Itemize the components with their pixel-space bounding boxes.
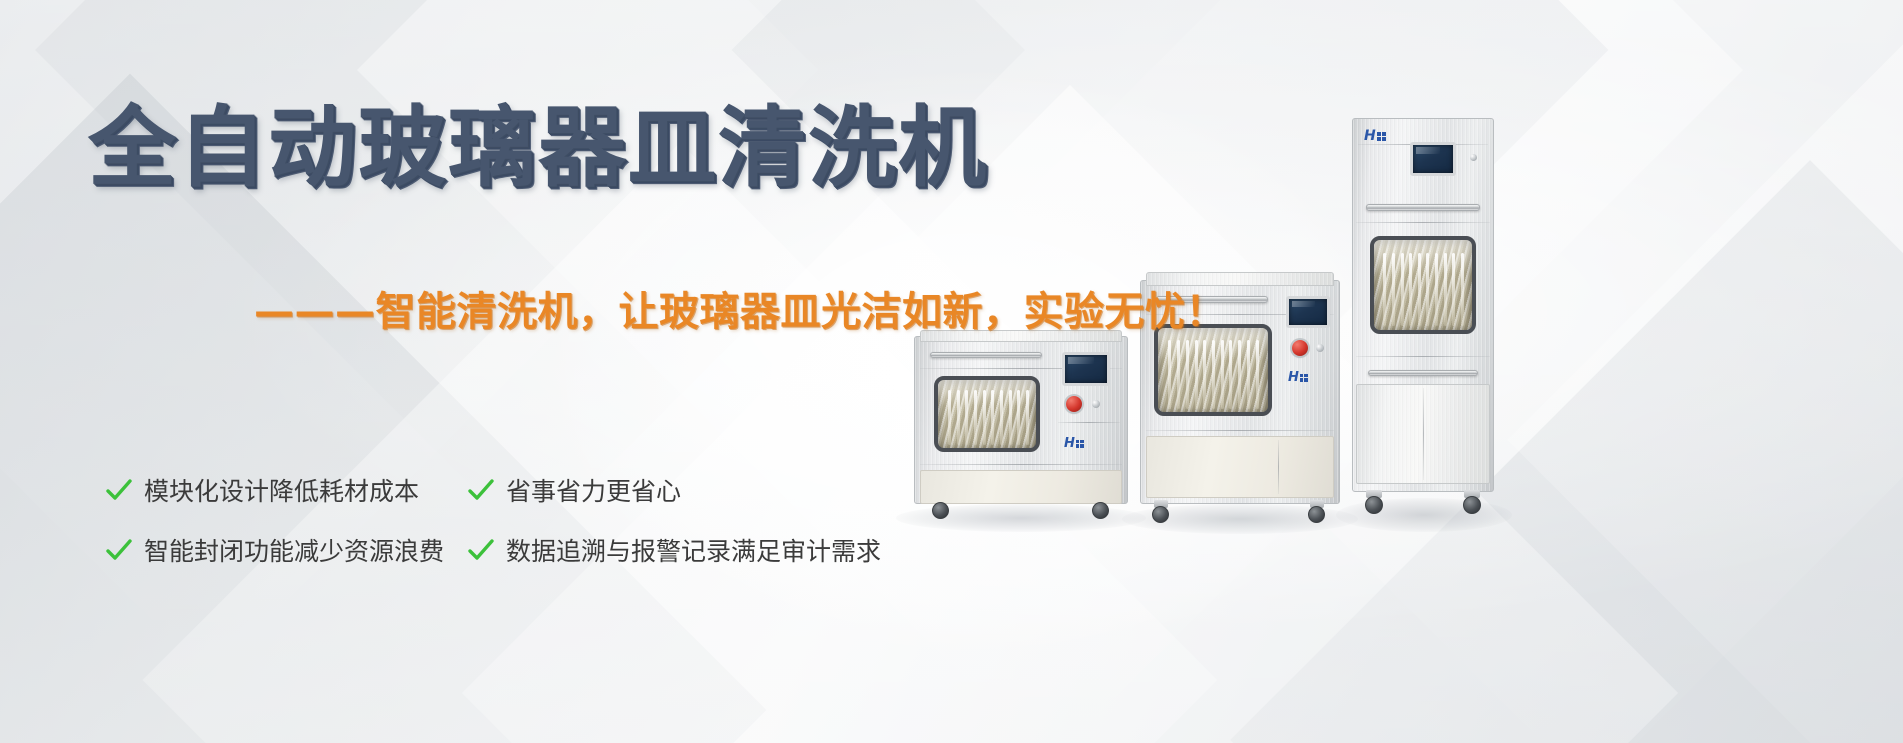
feature-item-3: 智能封闭功能减少资源浪费 (104, 532, 466, 568)
check-icon (466, 475, 496, 505)
feature-label: 数据追溯与报警记录满足审计需求 (506, 532, 881, 568)
feature-row: 智能封闭功能减少资源浪费 数据追溯与报警记录满足审计需求 (104, 532, 881, 568)
feature-item-2: 省事省力更省心 (466, 472, 681, 508)
check-icon (466, 535, 496, 565)
product-banner: H (0, 0, 1903, 743)
feature-label: 模块化设计降低耗材成本 (144, 472, 419, 508)
check-icon (104, 475, 134, 505)
page-title: 全自动玻璃器皿清洗机 (88, 104, 988, 192)
feature-list: 模块化设计降低耗材成本 省事省力更省心 (104, 472, 881, 568)
page-subtitle: ———智能清洗机，让玻璃器皿光洁如新，实验无忧！ (254, 292, 1226, 332)
check-icon (104, 535, 134, 565)
feature-label: 省事省力更省心 (506, 472, 681, 508)
banner-text-content: 全自动玻璃器皿清洗机 ———智能清洗机，让玻璃器皿光洁如新，实验无忧！ 模块化设… (0, 0, 1903, 743)
feature-item-1: 模块化设计降低耗材成本 (104, 472, 466, 508)
feature-item-4: 数据追溯与报警记录满足审计需求 (466, 532, 881, 568)
feature-label: 智能封闭功能减少资源浪费 (144, 532, 444, 568)
feature-row: 模块化设计降低耗材成本 省事省力更省心 (104, 472, 881, 508)
